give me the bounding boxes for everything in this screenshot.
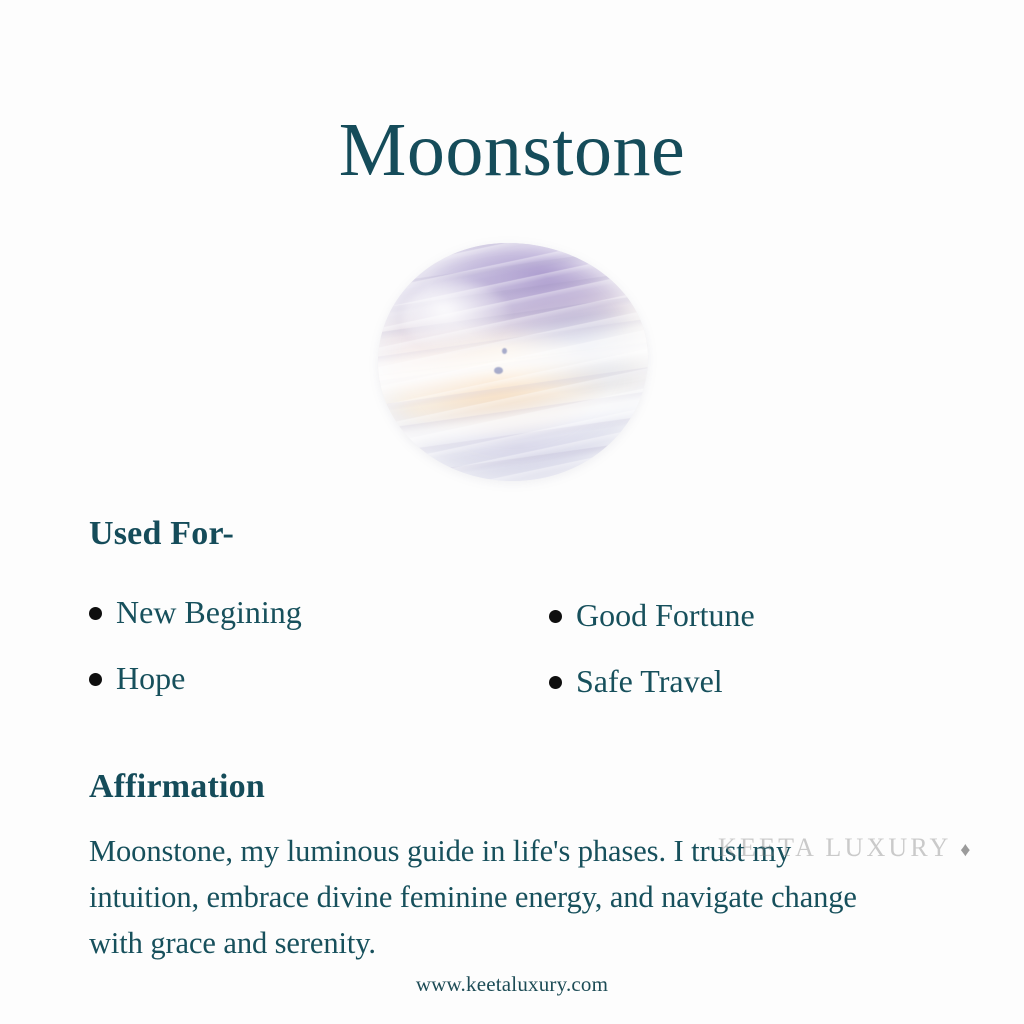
list-item: Good Fortune	[549, 595, 969, 633]
used-for-list: New Begining Good Fortune Hope Safe Trav…	[89, 595, 969, 727]
website-url[interactable]: www.keetaluxury.com	[0, 972, 1024, 997]
list-item-label: Good Fortune	[576, 598, 755, 633]
moonstone-body	[378, 243, 648, 481]
list-item: New Begining	[89, 595, 549, 630]
list-item-label: New Begining	[116, 595, 302, 630]
bullet-icon	[549, 676, 562, 689]
bullet-icon	[89, 673, 102, 686]
list-item-label: Hope	[116, 661, 185, 696]
diamond-icon: ♦	[960, 839, 970, 861]
list-item: Hope	[89, 661, 549, 696]
used-for-heading: Used For-	[89, 515, 234, 553]
moonstone-inclusion	[494, 367, 503, 374]
affirmation-heading: Affirmation	[89, 768, 265, 806]
moonstone-image	[378, 243, 648, 481]
affirmation-text: Moonstone, my luminous guide in life's p…	[89, 828, 889, 966]
moonstone-inclusion	[502, 348, 507, 354]
bullet-icon	[89, 607, 102, 620]
moonstone-info-card: Moonstone Used For- New Begining Good Fo…	[0, 0, 1024, 1024]
list-item-label: Safe Travel	[576, 664, 723, 699]
list-item: Safe Travel	[549, 661, 969, 699]
page-title: Moonstone	[0, 112, 1024, 188]
bullet-icon	[549, 610, 562, 623]
